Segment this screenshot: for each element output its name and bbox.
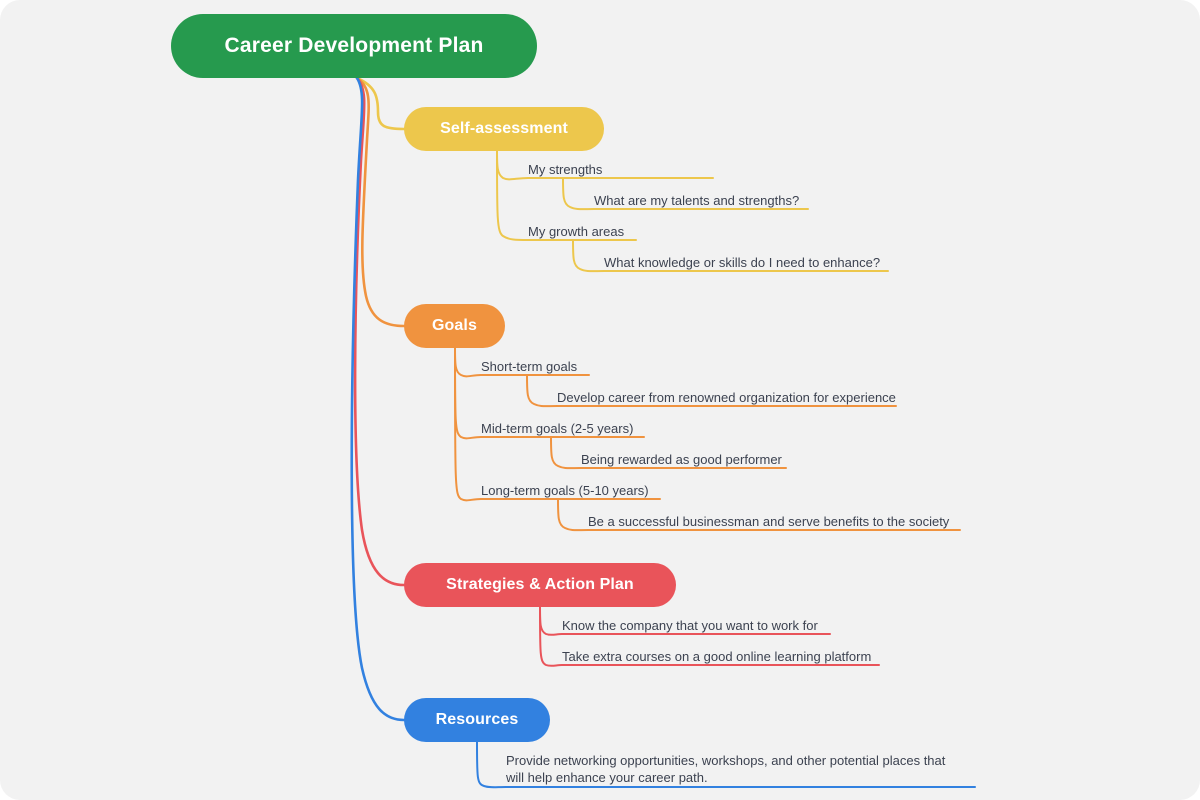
topic-label: Provide networking opportunities, worksh… xyxy=(506,753,945,785)
link-strategies-know-company xyxy=(540,607,562,635)
link-mid-term-detail xyxy=(551,437,581,468)
root-node-career-development-plan[interactable]: Career Development Plan xyxy=(171,14,537,78)
topic-my-strengths[interactable]: My strengths xyxy=(528,161,602,178)
branch-node-strategies-action-plan[interactable]: Strategies & Action Plan xyxy=(404,563,676,607)
link-goals-mid-term xyxy=(455,348,481,438)
link-long-term-detail xyxy=(558,499,588,530)
topic-provide-networking-opportunities[interactable]: Provide networking opportunities, worksh… xyxy=(506,752,966,786)
topic-take-extra-courses[interactable]: Take extra courses on a good online lear… xyxy=(562,648,871,665)
link-self-assessment-my-strengths xyxy=(497,151,528,179)
trunk-goals xyxy=(357,78,404,326)
topic-being-rewarded-good-performer[interactable]: Being rewarded as good performer xyxy=(581,451,782,468)
branch-node-label: Resources xyxy=(436,711,519,729)
topic-short-term-goals[interactable]: Short-term goals xyxy=(481,358,577,375)
topic-mid-term-goals[interactable]: Mid-term goals (2-5 years) xyxy=(481,420,633,437)
topic-label: My growth areas xyxy=(528,224,624,239)
mindmap-canvas: Career Development Plan Self-assessment … xyxy=(0,0,1200,800)
link-strategies-extra-courses xyxy=(540,607,562,666)
link-resources-detail xyxy=(477,742,506,787)
link-goals-short-term xyxy=(455,348,481,376)
branch-node-label: Strategies & Action Plan xyxy=(446,576,634,594)
topic-label: Long-term goals (5-10 years) xyxy=(481,483,649,498)
topic-label: What are my talents and strengths? xyxy=(594,193,799,208)
topic-my-growth-areas[interactable]: My growth areas xyxy=(528,223,624,240)
branch-node-goals[interactable]: Goals xyxy=(404,304,505,348)
topic-knowledge-skills-question[interactable]: What knowledge or skills do I need to en… xyxy=(604,254,880,271)
trunk-strategies xyxy=(355,78,404,585)
topic-successful-businessman-society[interactable]: Be a successful businessman and serve be… xyxy=(588,513,949,530)
topic-talents-and-strengths-question[interactable]: What are my talents and strengths? xyxy=(594,192,799,209)
branch-node-label: Self-assessment xyxy=(440,120,568,138)
topic-know-the-company[interactable]: Know the company that you want to work f… xyxy=(562,617,818,634)
topic-label: Develop career from renowned organizatio… xyxy=(557,390,896,405)
link-self-assessment-growth-areas xyxy=(497,151,528,240)
branch-node-label: Goals xyxy=(432,317,477,335)
topic-label: What knowledge or skills do I need to en… xyxy=(604,255,880,270)
topic-label: Know the company that you want to work f… xyxy=(562,618,818,633)
branch-node-self-assessment[interactable]: Self-assessment xyxy=(404,107,604,151)
topic-label: Short-term goals xyxy=(481,359,577,374)
topic-long-term-goals[interactable]: Long-term goals (5-10 years) xyxy=(481,482,649,499)
link-my-strengths-question xyxy=(563,178,594,209)
topic-label: Mid-term goals (2-5 years) xyxy=(481,421,633,436)
root-node-label: Career Development Plan xyxy=(224,34,483,58)
link-short-term-detail xyxy=(527,375,557,406)
link-growth-areas-question xyxy=(573,240,604,271)
link-goals-long-term xyxy=(455,348,481,500)
topic-label: Take extra courses on a good online lear… xyxy=(562,649,871,664)
branch-node-resources[interactable]: Resources xyxy=(404,698,550,742)
topic-develop-career-renowned-organization[interactable]: Develop career from renowned organizatio… xyxy=(557,389,896,406)
topic-label: Be a successful businessman and serve be… xyxy=(588,514,949,529)
topic-label: My strengths xyxy=(528,162,602,177)
trunk-self-assessment xyxy=(357,78,404,129)
trunk-resources xyxy=(352,78,404,720)
topic-label: Being rewarded as good performer xyxy=(581,452,782,467)
